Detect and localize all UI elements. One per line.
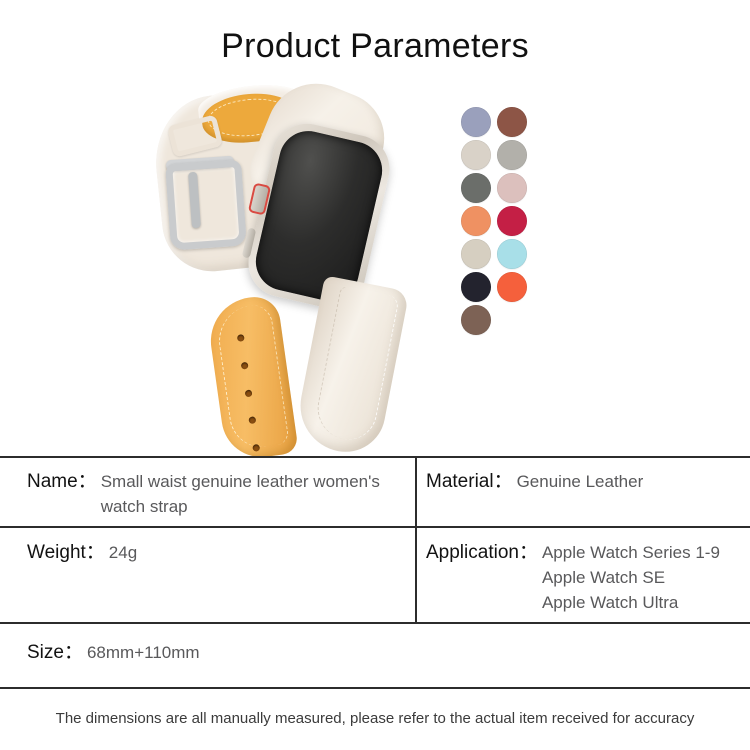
- color-swatch-crimson[interactable]: [494, 204, 530, 237]
- spec-value-line: Apple Watch SE: [542, 565, 720, 590]
- color-swatch-dot: [497, 206, 527, 236]
- spec-value-material: Genuine Leather: [513, 469, 644, 494]
- table-row: Size： 68mm+110mm: [0, 624, 750, 689]
- strap-hole: [248, 417, 256, 425]
- spec-value-application: Apple Watch Series 1-9Apple Watch SEAppl…: [538, 540, 720, 615]
- color-swatch-light-blue[interactable]: [494, 237, 530, 270]
- color-swatch-dot: [497, 107, 527, 137]
- spec-value-line: Genuine Leather: [517, 469, 644, 494]
- color-swatch-orange[interactable]: [458, 204, 494, 237]
- spec-label-material: Material：: [426, 469, 513, 494]
- color-swatch-dot: [461, 206, 491, 236]
- color-swatch-dot: [461, 140, 491, 170]
- color-swatch-dot: [461, 305, 491, 335]
- color-swatch-dot: [461, 107, 491, 137]
- footer-note-text: The dimensions are all manually measured…: [56, 710, 695, 727]
- spec-value-weight: 24g: [105, 540, 137, 565]
- color-swatch-dot: [461, 173, 491, 203]
- color-swatch-black-navy[interactable]: [458, 270, 494, 303]
- buckle-frame: [165, 159, 247, 250]
- color-swatch-orange-red[interactable]: [494, 270, 530, 303]
- color-swatch-brown[interactable]: [494, 105, 530, 138]
- color-swatch-dot: [461, 239, 491, 269]
- strap-hole: [240, 362, 248, 370]
- product-photo: [140, 84, 460, 456]
- color-swatch-dot: [497, 140, 527, 170]
- spec-value-line: Apple Watch Ultra: [542, 590, 720, 615]
- color-swatch-empty: [494, 303, 530, 336]
- spec-value-line: Apple Watch Series 1-9: [542, 540, 720, 565]
- spec-value-line: 68mm+110mm: [87, 640, 200, 665]
- spec-value-line: 24g: [109, 540, 137, 565]
- color-swatch-periwinkle-gray[interactable]: [458, 105, 494, 138]
- product-hero: [0, 92, 750, 456]
- color-swatch-dot: [497, 272, 527, 302]
- color-swatch-sand-beige[interactable]: [458, 237, 494, 270]
- spec-label-application: Application：: [426, 540, 538, 565]
- spec-label-size: Size：: [27, 640, 83, 665]
- color-swatch-warm-gray[interactable]: [494, 138, 530, 171]
- color-swatch-ivory-beige[interactable]: [458, 138, 494, 171]
- spec-label-name: Name：: [27, 469, 97, 494]
- spec-value-name: Small waist genuine leather women'swatch…: [97, 469, 380, 519]
- spec-value-line: Small waist genuine leather women's: [101, 469, 380, 494]
- table-row: Weight： 24g Application： Apple Watch Ser…: [0, 528, 750, 624]
- color-swatch-dot: [497, 239, 527, 269]
- table-row: Name： Small waist genuine leather women'…: [0, 458, 750, 528]
- color-swatch-dot: [497, 173, 527, 203]
- spec-value-size: 68mm+110mm: [83, 640, 200, 665]
- spec-cell-application: Application： Apple Watch Series 1-9Apple…: [417, 528, 750, 622]
- color-swatch-dot: [461, 272, 491, 302]
- spec-label-weight: Weight：: [27, 540, 105, 565]
- strap-hole: [236, 334, 244, 342]
- spec-cell-name: Name： Small waist genuine leather women'…: [0, 458, 417, 526]
- color-swatch-grid[interactable]: [458, 105, 550, 336]
- spec-cell-weight: Weight： 24g: [0, 528, 417, 622]
- page-title: Product Parameters: [221, 27, 529, 66]
- spec-table: Name： Small waist genuine leather women'…: [0, 456, 750, 689]
- strap-hole: [244, 389, 252, 397]
- title-bar: Product Parameters: [0, 0, 750, 92]
- spec-value-line: watch strap: [101, 494, 380, 519]
- spec-cell-size: Size： 68mm+110mm: [0, 624, 750, 687]
- spec-cell-material: Material： Genuine Leather: [417, 458, 750, 526]
- footer-note: The dimensions are all manually measured…: [0, 687, 750, 750]
- color-swatch-dark-gray[interactable]: [458, 171, 494, 204]
- color-swatch-dusty-pink[interactable]: [494, 171, 530, 204]
- color-swatch-taupe-brown[interactable]: [458, 303, 494, 336]
- strap-hole: [252, 444, 260, 452]
